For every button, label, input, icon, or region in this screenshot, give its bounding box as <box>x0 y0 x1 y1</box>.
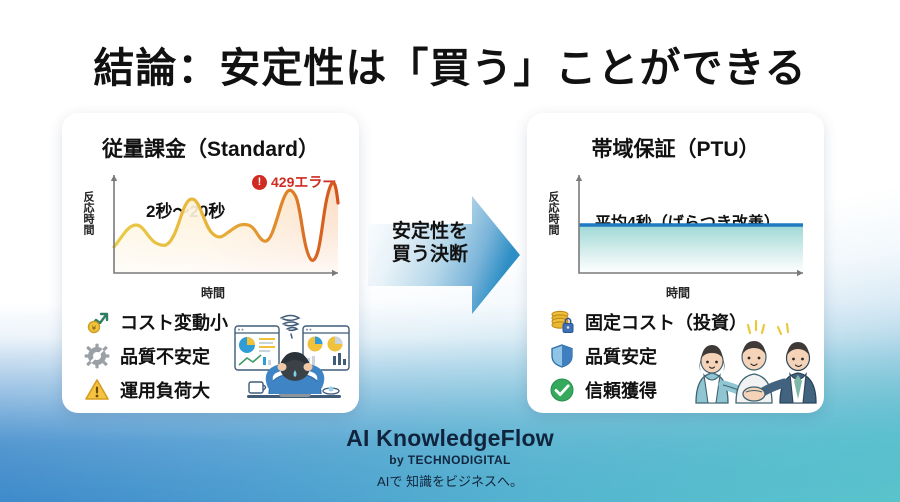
cost-trend-up-icon: ¥ <box>84 309 110 335</box>
standard-chart: 反応時間 時間 2秒〜20秒 ! 429エラー <box>84 171 342 281</box>
list-item: 品質不安定 <box>84 339 228 373</box>
coins-lock-icon <box>549 309 575 335</box>
handshake-people-icon <box>690 313 818 405</box>
decision-arrow-line1: 安定性を <box>368 220 492 243</box>
standard-chart-x-axis-label: 時間 <box>84 284 342 301</box>
ptu-plan-card: 帯域保証（PTU） 反応時間 時間 平均4秒（ばらつき改善） <box>527 113 824 413</box>
decision-arrow-label: 安定性を 買う決断 <box>368 220 492 266</box>
decision-arrow: 安定性を 買う決断 <box>368 196 520 314</box>
slide-canvas: 結論：安定性は「買う」ことができる 従量課金（Standard） 反応時間 時間… <box>0 0 900 502</box>
check-circle-icon <box>549 377 575 403</box>
ptu-chart: 反応時間 時間 平均4秒（ばらつき改善） <box>549 171 807 281</box>
standard-chart-y-axis-label: 反応時間 <box>80 191 96 235</box>
ptu-chart-area-fill <box>579 225 803 273</box>
list-item-label: 品質安定 <box>585 343 657 369</box>
list-item: 運用負荷大 <box>84 373 228 407</box>
brand-tagline: AIで 知識をビジネスへ。 <box>0 471 900 490</box>
stressed-person-icon <box>233 312 351 407</box>
ptu-chart-y-arrow <box>576 175 582 181</box>
page-title: 結論：安定性は「買う」ことができる <box>0 34 900 94</box>
decision-arrow-line2: 買う決断 <box>368 243 492 266</box>
standard-plan-card: 従量課金（Standard） 反応時間 時間 2秒〜20秒 ! 429エラー <box>62 113 359 413</box>
shield-icon <box>549 343 575 369</box>
svg-text:¥: ¥ <box>92 324 97 332</box>
standard-chart-svg <box>110 173 340 277</box>
ptu-chart-svg <box>575 173 805 277</box>
list-item-label: コスト変動小 <box>120 309 228 335</box>
standard-chart-area-fade <box>114 183 338 273</box>
gear-icon <box>84 343 110 369</box>
footer-branding: AI KnowledgeFlow by TECHNODIGITAL AIで 知識… <box>0 425 900 490</box>
ptu-chart-y-axis-label: 反応時間 <box>545 191 561 235</box>
brand-name: AI KnowledgeFlow <box>0 425 900 452</box>
ptu-chart-x-axis-label: 時間 <box>549 284 807 301</box>
brand-byline: by TECHNODIGITAL <box>0 453 900 467</box>
ptu-chart-plot-area <box>575 173 805 277</box>
list-item: ¥ コスト変動小 <box>84 305 228 339</box>
list-item-label: 運用負荷大 <box>120 377 210 403</box>
standard-chart-y-arrow <box>111 175 117 181</box>
standard-chart-plot-area <box>110 173 340 277</box>
standard-bullet-list: ¥ コスト変動小 <box>84 305 228 407</box>
list-item-label: 信頼獲得 <box>585 377 657 403</box>
ptu-card-title: 帯域保証（PTU） <box>527 133 824 163</box>
list-item-label: 品質不安定 <box>120 343 210 369</box>
standard-card-title: 従量課金（Standard） <box>62 133 359 163</box>
warning-triangle-icon <box>84 377 110 403</box>
